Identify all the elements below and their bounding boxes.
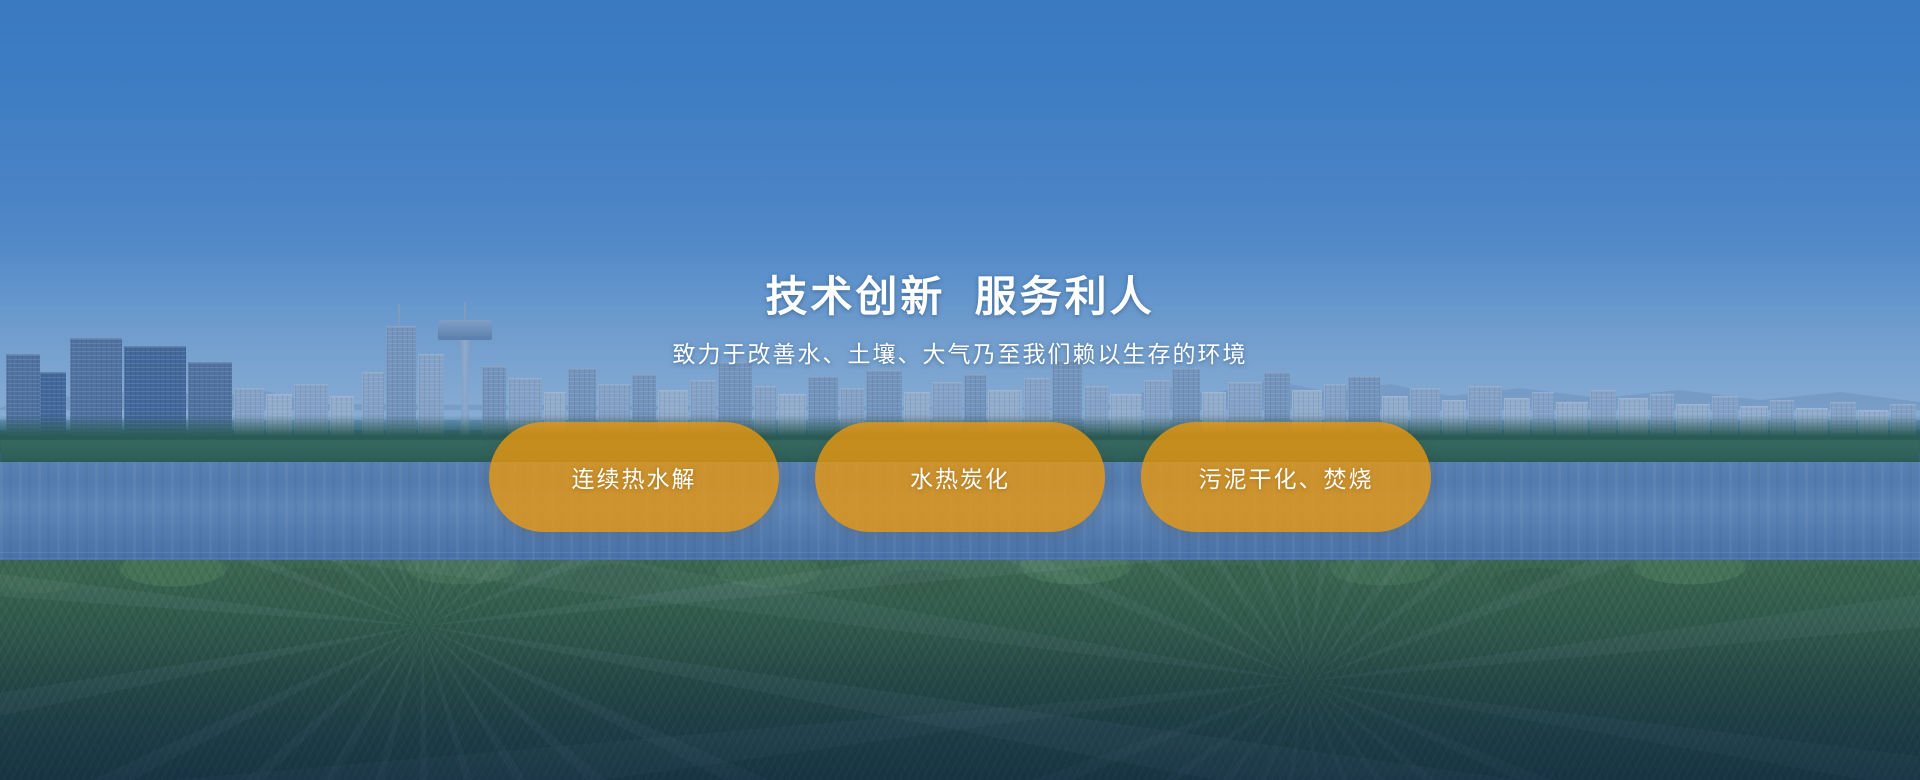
service-button-sludge-drying-incineration[interactable]: 污泥干化、焚烧 xyxy=(1141,422,1431,532)
service-button-continuous-thermal-hydrolysis[interactable]: 连续热水解 xyxy=(489,422,779,532)
service-button-label: 连续热水解 xyxy=(572,460,697,494)
service-button-row: 连续热水解 水热炭化 污泥干化、焚烧 xyxy=(489,422,1431,532)
service-button-hydrothermal-carbonization[interactable]: 水热炭化 xyxy=(815,422,1105,532)
hero-subtitle: 致力于改善水、土壤、大气乃至我们赖以生存的环境 xyxy=(673,338,1248,370)
service-button-label: 污泥干化、焚烧 xyxy=(1199,460,1374,494)
hero-content: 技术创新 服务利人 致力于改善水、土壤、大气乃至我们赖以生存的环境 连续热水解 … xyxy=(0,0,1920,780)
service-button-label: 水热炭化 xyxy=(910,460,1010,494)
hero-banner: 技术创新 服务利人 致力于改善水、土壤、大气乃至我们赖以生存的环境 连续热水解 … xyxy=(0,0,1920,780)
page-title: 技术创新 服务利人 xyxy=(765,272,1154,322)
